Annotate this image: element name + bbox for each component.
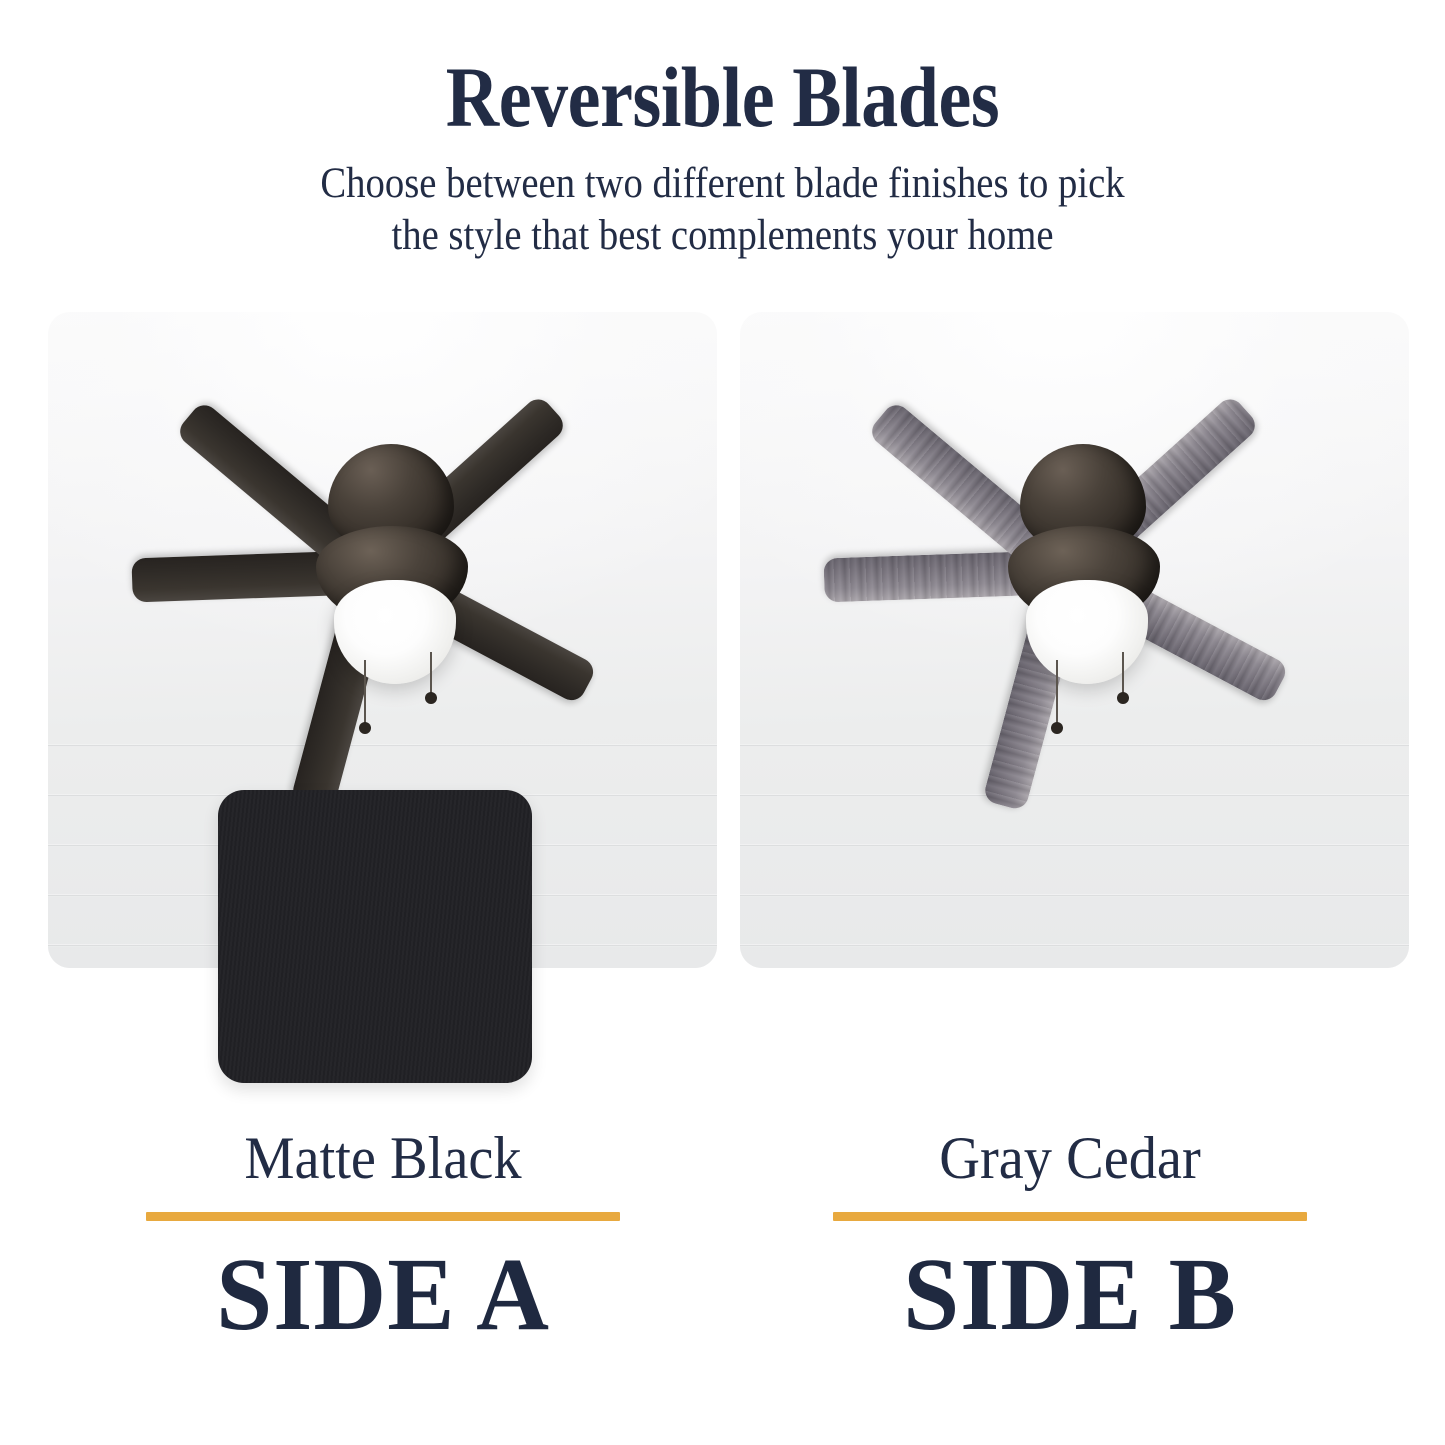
option-panel-side-a — [48, 312, 717, 968]
option-panel-side-b — [740, 312, 1409, 968]
subtitle-line-2: the style that best complements your hom… — [72, 210, 1373, 262]
caption-row: Matte Black SIDE A Gray Cedar SIDE B — [0, 1128, 1445, 1428]
subtitle-line-1: Choose between two different blade finis… — [72, 142, 1373, 210]
side-label-b: SIDE B — [750, 1221, 1390, 1351]
comparison-panels — [48, 312, 1398, 1092]
pull-chain — [364, 660, 366, 724]
finish-name-side-a: Matte Black — [73, 1128, 693, 1188]
caption-side-a: Matte Black SIDE A — [53, 1128, 713, 1351]
gold-divider-side-a — [146, 1212, 620, 1221]
ceiling-fan-gray-cedar — [740, 312, 1409, 968]
header: Reversible Blades Choose between two dif… — [0, 0, 1445, 263]
gold-divider-side-b — [833, 1212, 1307, 1221]
pull-chain — [430, 652, 432, 694]
side-label-a: SIDE A — [63, 1221, 703, 1351]
pull-chain — [1122, 652, 1124, 694]
page-title: Reversible Blades — [101, 0, 1344, 142]
pull-chain — [1056, 660, 1058, 724]
matte-black-swatch[interactable] — [218, 790, 532, 1083]
finish-name-side-b: Gray Cedar — [760, 1128, 1380, 1188]
fan-photo-side-b — [740, 312, 1409, 968]
caption-side-b: Gray Cedar SIDE B — [740, 1128, 1400, 1351]
